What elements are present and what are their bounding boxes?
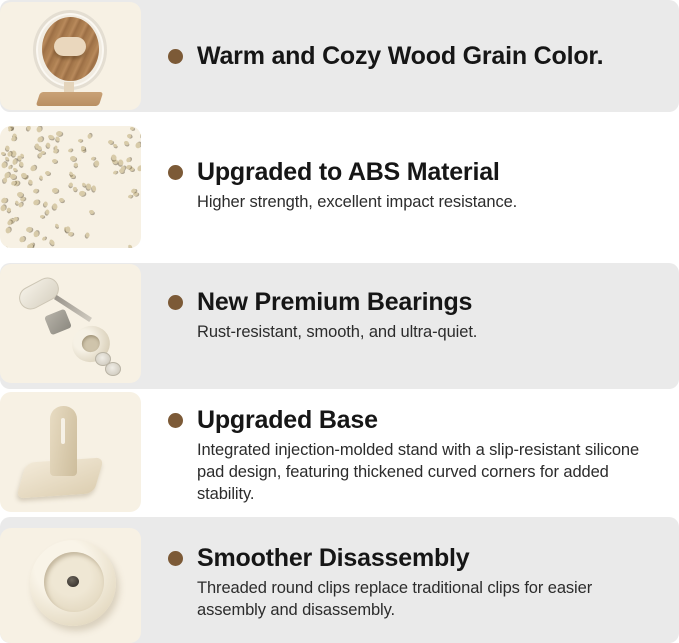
abs-pellet xyxy=(118,158,125,165)
abs-pellet xyxy=(36,126,41,132)
feature-title: Warm and Cozy Wood Grain Color. xyxy=(197,41,603,71)
abs-pellet xyxy=(51,203,57,210)
feature-title: New Premium Bearings xyxy=(197,287,472,317)
feature-subtitle: Rust-resistant, smooth, and ultra-quiet. xyxy=(197,321,665,343)
stand-slot-shape xyxy=(61,418,65,444)
abs-pellet xyxy=(18,235,25,242)
abs-pellet xyxy=(34,231,39,237)
abs-pellet xyxy=(73,186,78,191)
feature-thumbnail-bearing-assembly xyxy=(0,264,141,383)
abs-pellet xyxy=(89,210,95,215)
abs-pellet xyxy=(58,197,63,201)
abs-pellet xyxy=(0,206,5,212)
abs-pellet xyxy=(1,152,5,156)
abs-pellet xyxy=(112,144,117,149)
abs-pellet xyxy=(91,185,97,191)
feature-subtitle: Threaded round clips replace traditional… xyxy=(197,577,665,621)
abs-pellet xyxy=(52,187,58,192)
abs-pellet xyxy=(126,133,131,138)
feature-text-block: Smoother Disassembly Threaded round clip… xyxy=(168,543,665,621)
abs-pellet xyxy=(78,138,83,143)
abs-pellet xyxy=(33,199,40,206)
abs-pellet xyxy=(126,157,132,163)
fan-base-shape xyxy=(36,92,104,106)
feature-thumbnail-abs-pellets xyxy=(0,126,141,248)
abs-pellet xyxy=(18,202,23,208)
fan-hub-shape xyxy=(54,37,86,56)
abs-pellet xyxy=(55,224,60,229)
feature-subtitle: Higher strength, excellent impact resist… xyxy=(197,191,665,213)
abs-pellet xyxy=(95,160,100,166)
abs-pellet xyxy=(139,131,141,139)
bullet-point-icon xyxy=(168,551,183,566)
feature-title: Upgraded to ABS Material xyxy=(197,157,500,187)
abs-pellet xyxy=(18,161,24,167)
bearing-cap-shape xyxy=(15,273,63,313)
feature-subtitle: Integrated injection-molded stand with a… xyxy=(197,439,665,505)
abs-pellet xyxy=(0,196,8,203)
abs-pellet xyxy=(81,146,86,150)
abs-pellet xyxy=(10,174,16,179)
stand-with-silicone-pad-illustration xyxy=(0,392,141,512)
wood-grain-fan-illustration xyxy=(0,2,141,110)
abs-pellet xyxy=(135,142,141,149)
abs-pellet xyxy=(3,177,7,182)
abs-pellet xyxy=(45,209,50,215)
feature-list: Warm and Cozy Wood Grain Color. Upgraded… xyxy=(0,0,679,643)
bearing-block-shape xyxy=(44,309,72,336)
abs-pellet xyxy=(28,179,34,185)
bullet-point-icon xyxy=(168,413,183,428)
feature-text-block: Warm and Cozy Wood Grain Color. xyxy=(168,41,665,71)
feature-title: Smoother Disassembly xyxy=(197,543,470,573)
abs-pellet xyxy=(55,130,62,136)
abs-pellet xyxy=(70,156,76,161)
feature-title-line: Smoother Disassembly xyxy=(168,543,665,573)
abs-pellet xyxy=(113,170,118,175)
abs-pellet xyxy=(42,236,47,241)
abs-pellet xyxy=(26,126,31,131)
abs-pellet xyxy=(7,207,13,213)
feature-title-line: New Premium Bearings xyxy=(168,287,665,317)
abs-pellet xyxy=(88,134,92,139)
feature-text-block: Upgraded to ABS Material Higher strength… xyxy=(168,157,665,213)
abs-pellet xyxy=(39,175,44,180)
abs-pellet xyxy=(6,220,11,226)
abs-pellet xyxy=(124,140,130,145)
feature-title-line: Warm and Cozy Wood Grain Color. xyxy=(168,41,665,71)
bullet-point-icon xyxy=(168,295,183,310)
abs-pellet xyxy=(12,159,17,165)
abs-pellet xyxy=(43,201,48,207)
abs-pellet xyxy=(26,226,33,233)
feature-text-block: New Premium Bearings Rust-resistant, smo… xyxy=(168,287,665,343)
bearing-washer-shape xyxy=(105,362,121,376)
feature-thumbnail-stand-base xyxy=(0,392,141,512)
abs-pellet xyxy=(74,162,80,168)
abs-pellet xyxy=(26,243,33,248)
abs-pellet xyxy=(12,216,19,223)
abs-pellet xyxy=(78,190,84,196)
abs-pellet xyxy=(19,196,25,202)
clip-screw-shape xyxy=(67,576,79,587)
abs-pellet xyxy=(128,195,133,199)
abs-pellet xyxy=(5,157,10,162)
feature-thumbnail-threaded-clip xyxy=(0,528,141,643)
abs-pellets-illustration xyxy=(0,126,141,248)
abs-pellet xyxy=(17,191,23,196)
abs-pellet xyxy=(29,165,36,172)
feature-thumbnail-wood-grain-fan xyxy=(0,2,141,110)
abs-pellet xyxy=(46,142,51,148)
abs-pellet xyxy=(32,188,38,194)
exploded-bearing-illustration xyxy=(0,264,141,383)
abs-pellet xyxy=(107,139,113,144)
abs-pellet xyxy=(12,168,16,172)
abs-pellet xyxy=(67,148,72,152)
abs-pellet xyxy=(128,244,133,248)
feature-title-line: Upgraded Base xyxy=(168,405,665,435)
abs-pellet xyxy=(39,214,44,219)
abs-pellet xyxy=(37,135,44,143)
abs-pellet xyxy=(5,246,10,248)
abs-pellet xyxy=(51,158,56,162)
abs-pellet xyxy=(130,126,135,130)
bullet-point-icon xyxy=(168,49,183,64)
abs-pellet xyxy=(67,231,73,236)
abs-pellet xyxy=(1,162,6,168)
abs-pellet xyxy=(48,238,55,245)
abs-pellet xyxy=(8,165,12,170)
threaded-round-clip-illustration xyxy=(0,528,141,643)
feature-title: Upgraded Base xyxy=(197,405,378,435)
abs-pellet xyxy=(6,227,12,234)
feature-title-line: Upgraded to ABS Material xyxy=(168,157,665,187)
abs-pellet xyxy=(85,232,90,238)
bullet-point-icon xyxy=(168,165,183,180)
abs-pellet xyxy=(47,135,53,141)
abs-pellet xyxy=(54,136,60,143)
abs-pellet xyxy=(136,164,141,171)
abs-pellet xyxy=(45,171,51,176)
abs-pellet xyxy=(52,148,59,155)
feature-text-block: Upgraded Base Integrated injection-molde… xyxy=(168,405,665,505)
abs-pellet xyxy=(5,145,11,151)
